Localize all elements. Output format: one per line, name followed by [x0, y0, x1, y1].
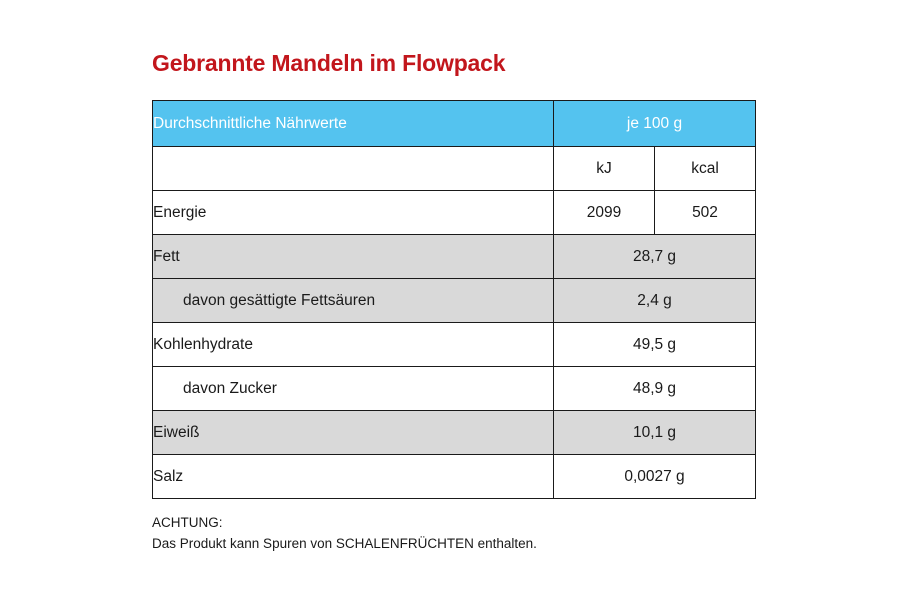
header-label-cell: Durchschnittliche Nährwerte: [153, 101, 554, 147]
units-kcal-cell: kcal: [655, 147, 756, 191]
row-value: 49,5 g: [554, 323, 756, 367]
nutrition-table: Durchschnittliche Nährwerte je 100 g kJ …: [152, 100, 756, 499]
row-label: Fett: [153, 235, 554, 279]
table-row: Fett 28,7 g: [153, 235, 756, 279]
row-label: Salz: [153, 455, 554, 499]
row-label: Eiweiß: [153, 411, 554, 455]
allergen-note-text: Das Produkt kann Spuren von SCHALENFRÜCH…: [152, 533, 537, 554]
row-value: 0,0027 g: [554, 455, 756, 499]
row-label: davon Zucker: [153, 367, 554, 411]
table-row: davon Zucker 48,9 g: [153, 367, 756, 411]
row-label: Energie: [153, 191, 554, 235]
row-label: Kohlenhydrate: [153, 323, 554, 367]
table-row: davon gesättigte Fettsäuren 2,4 g: [153, 279, 756, 323]
table-units-row: kJ kcal: [153, 147, 756, 191]
table-row: Salz 0,0027 g: [153, 455, 756, 499]
allergen-note: ACHTUNG: Das Produkt kann Spuren von SCH…: [152, 512, 537, 554]
table-row: Energie 2099 502: [153, 191, 756, 235]
nutrition-table-body: Durchschnittliche Nährwerte je 100 g kJ …: [153, 101, 756, 499]
page-title: Gebrannte Mandeln im Flowpack: [152, 50, 505, 77]
units-kj-cell: kJ: [554, 147, 655, 191]
table-row: Eiweiß 10,1 g: [153, 411, 756, 455]
header-per-serving-cell: je 100 g: [554, 101, 756, 147]
table-row: Kohlenhydrate 49,5 g: [153, 323, 756, 367]
row-value: 10,1 g: [554, 411, 756, 455]
row-value-kj: 2099: [554, 191, 655, 235]
row-label: davon gesättigte Fettsäuren: [153, 279, 554, 323]
row-value: 2,4 g: [554, 279, 756, 323]
units-empty-cell: [153, 147, 554, 191]
nutrition-label-page: Gebrannte Mandeln im Flowpack Durchschni…: [0, 0, 900, 600]
row-value: 48,9 g: [554, 367, 756, 411]
allergen-note-heading: ACHTUNG:: [152, 512, 537, 533]
row-value-kcal: 502: [655, 191, 756, 235]
row-value: 28,7 g: [554, 235, 756, 279]
table-header-row: Durchschnittliche Nährwerte je 100 g: [153, 101, 756, 147]
